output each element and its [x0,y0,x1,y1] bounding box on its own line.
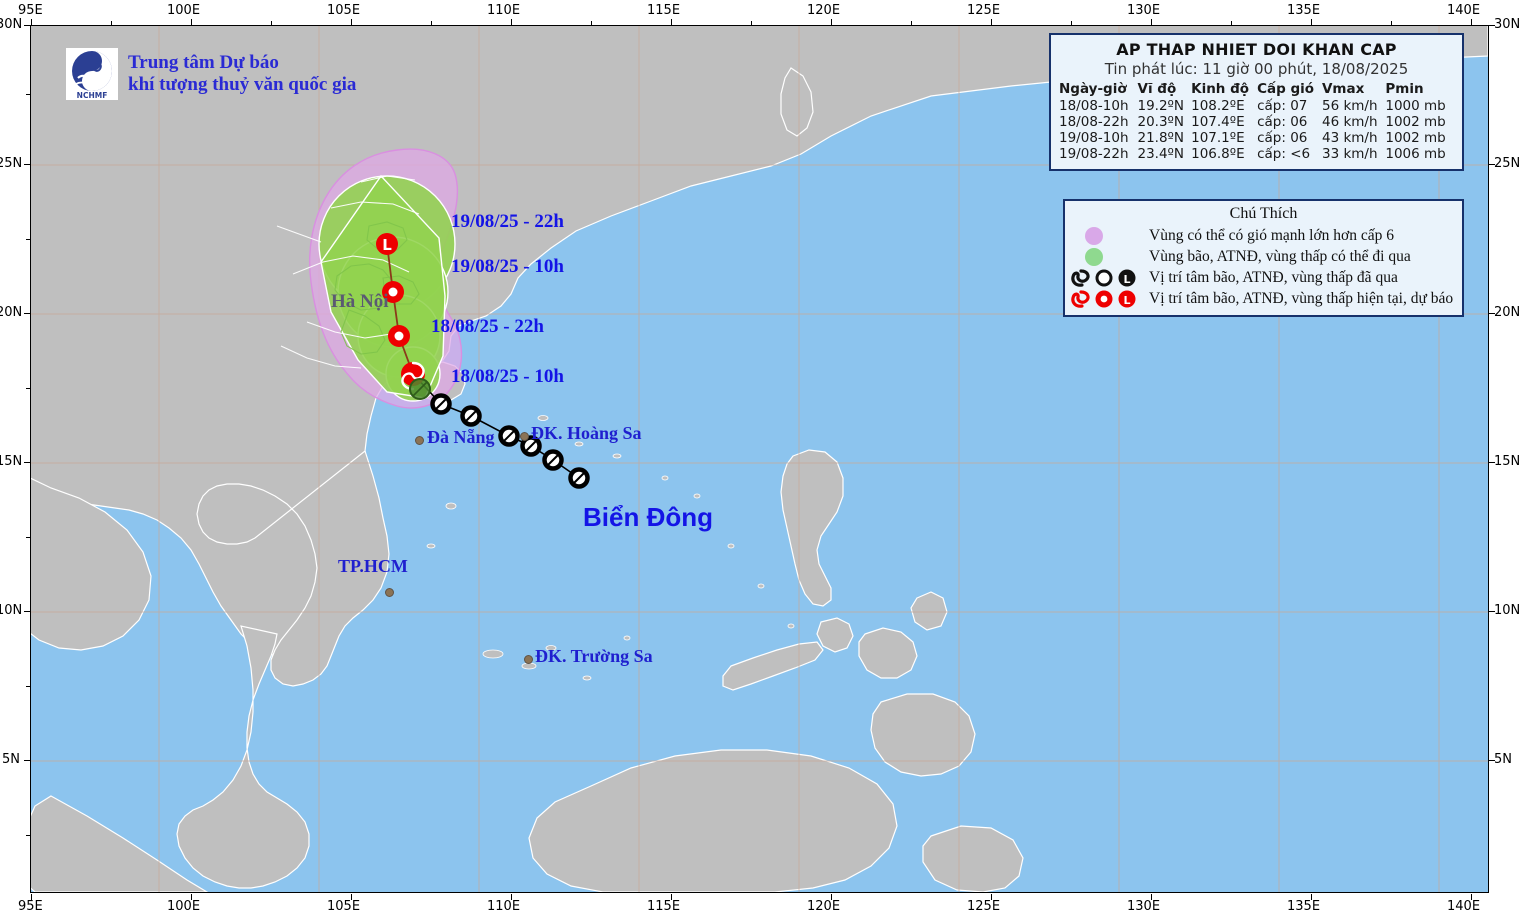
cell-pmin: 1006 mb [1385,146,1454,162]
lat-tick-right-20N: 20N [1494,305,1519,320]
legend-row-current-forecast-positions: L Vị trí tâm bão, ATNĐ, vùng thấp hiện t… [1071,288,1456,309]
black-storm-icon [1073,271,1088,285]
cell-latitude: 23.4ºN [1138,146,1192,162]
legend-symbol-current-forecast: L [1071,289,1143,309]
storm-info-issued-time: Tin phát lúc: 11 giờ 00 phút, 18/08/2025 [1059,60,1454,78]
forecast-table: Ngày-giờ Vĩ độ Kinh độ Cấp gió Vmax Pmin… [1059,81,1454,162]
cell-pmin: 1002 mb [1385,114,1454,130]
lat-tick-20N: 20N [0,305,22,320]
forecast-marker-19-22h: L [376,233,398,255]
legend-label-past-positions: Vị trí tâm bão, ATNĐ, vùng thấp đã qua [1149,269,1398,287]
nchmf-logo-icon: NCHMF [66,48,118,100]
cell-vmax: 46 km/h [1322,114,1385,130]
svg-text:L: L [1123,273,1130,286]
col-header-pmin: Pmin [1385,81,1454,98]
lat-tick-right-30N: 30N [1494,17,1519,32]
lon-tick-bottom-120E: 120E [807,899,840,914]
col-header-vmax: Vmax [1322,81,1385,98]
city-dot-hoangsa [520,432,529,441]
city-dot-tphcm [385,588,394,597]
lon-tick-125E: 125E [967,3,1000,18]
cell-vmax: 56 km/h [1322,98,1385,114]
nchmf-logo-block: NCHMF Trung tâm Dự báo khí tượng thuỷ vă… [66,48,356,100]
lat-tick-5N: 5N [2,752,20,767]
legend-panel: Chú Thích Vùng có thể có gió mạnh lớn hơ… [1063,199,1464,317]
forecast-table-header-row: Ngày-giờ Vĩ độ Kinh độ Cấp gió Vmax Pmin [1059,81,1454,98]
svg-text:L: L [382,236,392,254]
legend-label-storm-path-area: Vùng bão, ATNĐ, vùng thấp có thể đi qua [1149,248,1411,266]
cell-datetime: 19/08-10h [1059,130,1138,146]
cell-datetime: 19/08-22h [1059,146,1138,162]
lon-tick-110E: 110E [487,3,520,18]
lon-tick-105E: 105E [327,3,360,18]
cell-wind-level: cấp: 07 [1257,98,1322,114]
lon-tick-bottom-115E: 115E [647,899,680,914]
nchmf-abbr-text: NCHMF [77,91,108,100]
col-header-datetime: Ngày-giờ [1059,81,1138,98]
lat-tick-15N: 15N [0,454,22,469]
table-row: 19/08-22h 23.4ºN 106.8ºE cấp: <6 33 km/h… [1059,146,1454,162]
table-row: 18/08-10h 19.2ºN 108.2ºE cấp: 07 56 km/h… [1059,98,1454,114]
lon-tick-bottom-100E: 100E [167,899,200,914]
lon-tick-95E: 95E [18,3,43,18]
lon-tick-bottom-105E: 105E [327,899,360,914]
org-name-line2: khí tượng thuỷ văn quốc gia [128,74,356,96]
cell-wind-level: cấp: 06 [1257,114,1322,130]
cell-pmin: 1002 mb [1385,130,1454,146]
lat-tick-right-5N: 5N [1494,752,1512,767]
cell-longitude: 107.4ºE [1191,114,1257,130]
legend-row-storm-path-area: Vùng bão, ATNĐ, vùng thấp có thể đi qua [1071,246,1456,267]
lon-tick-bottom-130E: 130E [1127,899,1160,914]
lat-tick-10N: 10N [0,603,22,618]
green-circle-icon [1085,248,1103,266]
black-L-icon: L [1119,269,1136,286]
red-circle-icon [1096,290,1113,307]
legend-label-current-forecast: Vị trí tâm bão, ATNĐ, vùng thấp hiện tại… [1149,290,1453,308]
cell-latitude: 19.2ºN [1138,98,1192,114]
legend-label-strong-wind: Vùng có thể có gió mạnh lớn hơn cấp 6 [1149,227,1394,245]
lat-tick-right-15N: 15N [1494,454,1519,469]
lon-tick-bottom-95E: 95E [18,899,43,914]
city-dot-truongsa [524,655,533,664]
col-header-latitude: Vĩ độ [1138,81,1192,98]
lon-tick-bottom-140E: 140E [1447,899,1480,914]
cell-datetime: 18/08-22h [1059,114,1138,130]
lat-tick-right-10N: 10N [1494,603,1519,618]
lat-tick-30N: 30N [0,17,22,32]
cell-latitude: 21.8ºN [1138,130,1192,146]
forecast-marker-18-22h [388,325,410,347]
legend-symbol-storm-path-area [1071,248,1143,266]
col-header-longitude: Kinh độ [1191,81,1257,98]
lon-tick-bottom-110E: 110E [487,899,520,914]
lat-tick-right-25N: 25N [1494,156,1519,171]
cell-longitude: 108.2ºE [1191,98,1257,114]
legend-row-past-positions: L Vị trí tâm bão, ATNĐ, vùng thấp đã qua [1071,267,1456,288]
red-storm-icon [1073,292,1088,306]
city-dot-danang [415,436,424,445]
lat-tick-25N: 25N [0,156,22,171]
lon-tick-bottom-135E: 135E [1287,899,1320,914]
lon-tick-130E: 130E [1127,3,1160,18]
cell-wind-level: cấp: 06 [1257,130,1322,146]
purple-circle-icon [1085,227,1103,245]
nchmf-org-name: Trung tâm Dự báo khí tượng thuỷ văn quốc… [128,52,356,96]
storm-info-panel: AP THAP NHIET DOI KHAN CAP Tin phát lúc:… [1049,33,1464,171]
cell-latitude: 20.3ºN [1138,114,1192,130]
lon-tick-bottom-125E: 125E [967,899,1000,914]
org-name-line1: Trung tâm Dự báo [128,52,356,74]
table-row: 18/08-22h 20.3ºN 107.4ºE cấp: 06 46 km/h… [1059,114,1454,130]
cell-datetime: 18/08-10h [1059,98,1138,114]
storm-info-title: AP THAP NHIET DOI KHAN CAP [1059,40,1454,59]
legend-symbol-past-positions: L [1071,268,1143,288]
col-header-wind-level: Cấp gió [1257,81,1322,98]
cell-vmax: 43 km/h [1322,130,1385,146]
storm-track-map-page: L [0,0,1519,919]
lon-tick-100E: 100E [167,3,200,18]
wind-radius-marker [410,379,430,399]
lon-tick-120E: 120E [807,3,840,18]
lon-tick-135E: 135E [1287,3,1320,18]
red-L-icon: L [1119,290,1136,307]
lon-tick-140E: 140E [1447,3,1480,18]
cell-longitude: 106.8ºE [1191,146,1257,162]
legend-title: Chú Thích [1071,205,1456,223]
legend-symbol-strong-wind-area [1071,227,1143,245]
svg-text:L: L [1123,294,1130,307]
black-circle-icon [1097,271,1111,285]
cell-pmin: 1000 mb [1385,98,1454,114]
cell-vmax: 33 km/h [1322,146,1385,162]
forecast-marker-19-10h [382,281,404,303]
table-row: 19/08-10h 21.8ºN 107.1ºE cấp: 06 43 km/h… [1059,130,1454,146]
lon-tick-115E: 115E [647,3,680,18]
cell-wind-level: cấp: <6 [1257,146,1322,162]
cell-longitude: 107.1ºE [1191,130,1257,146]
legend-row-strong-wind: Vùng có thể có gió mạnh lớn hơn cấp 6 [1071,225,1456,246]
